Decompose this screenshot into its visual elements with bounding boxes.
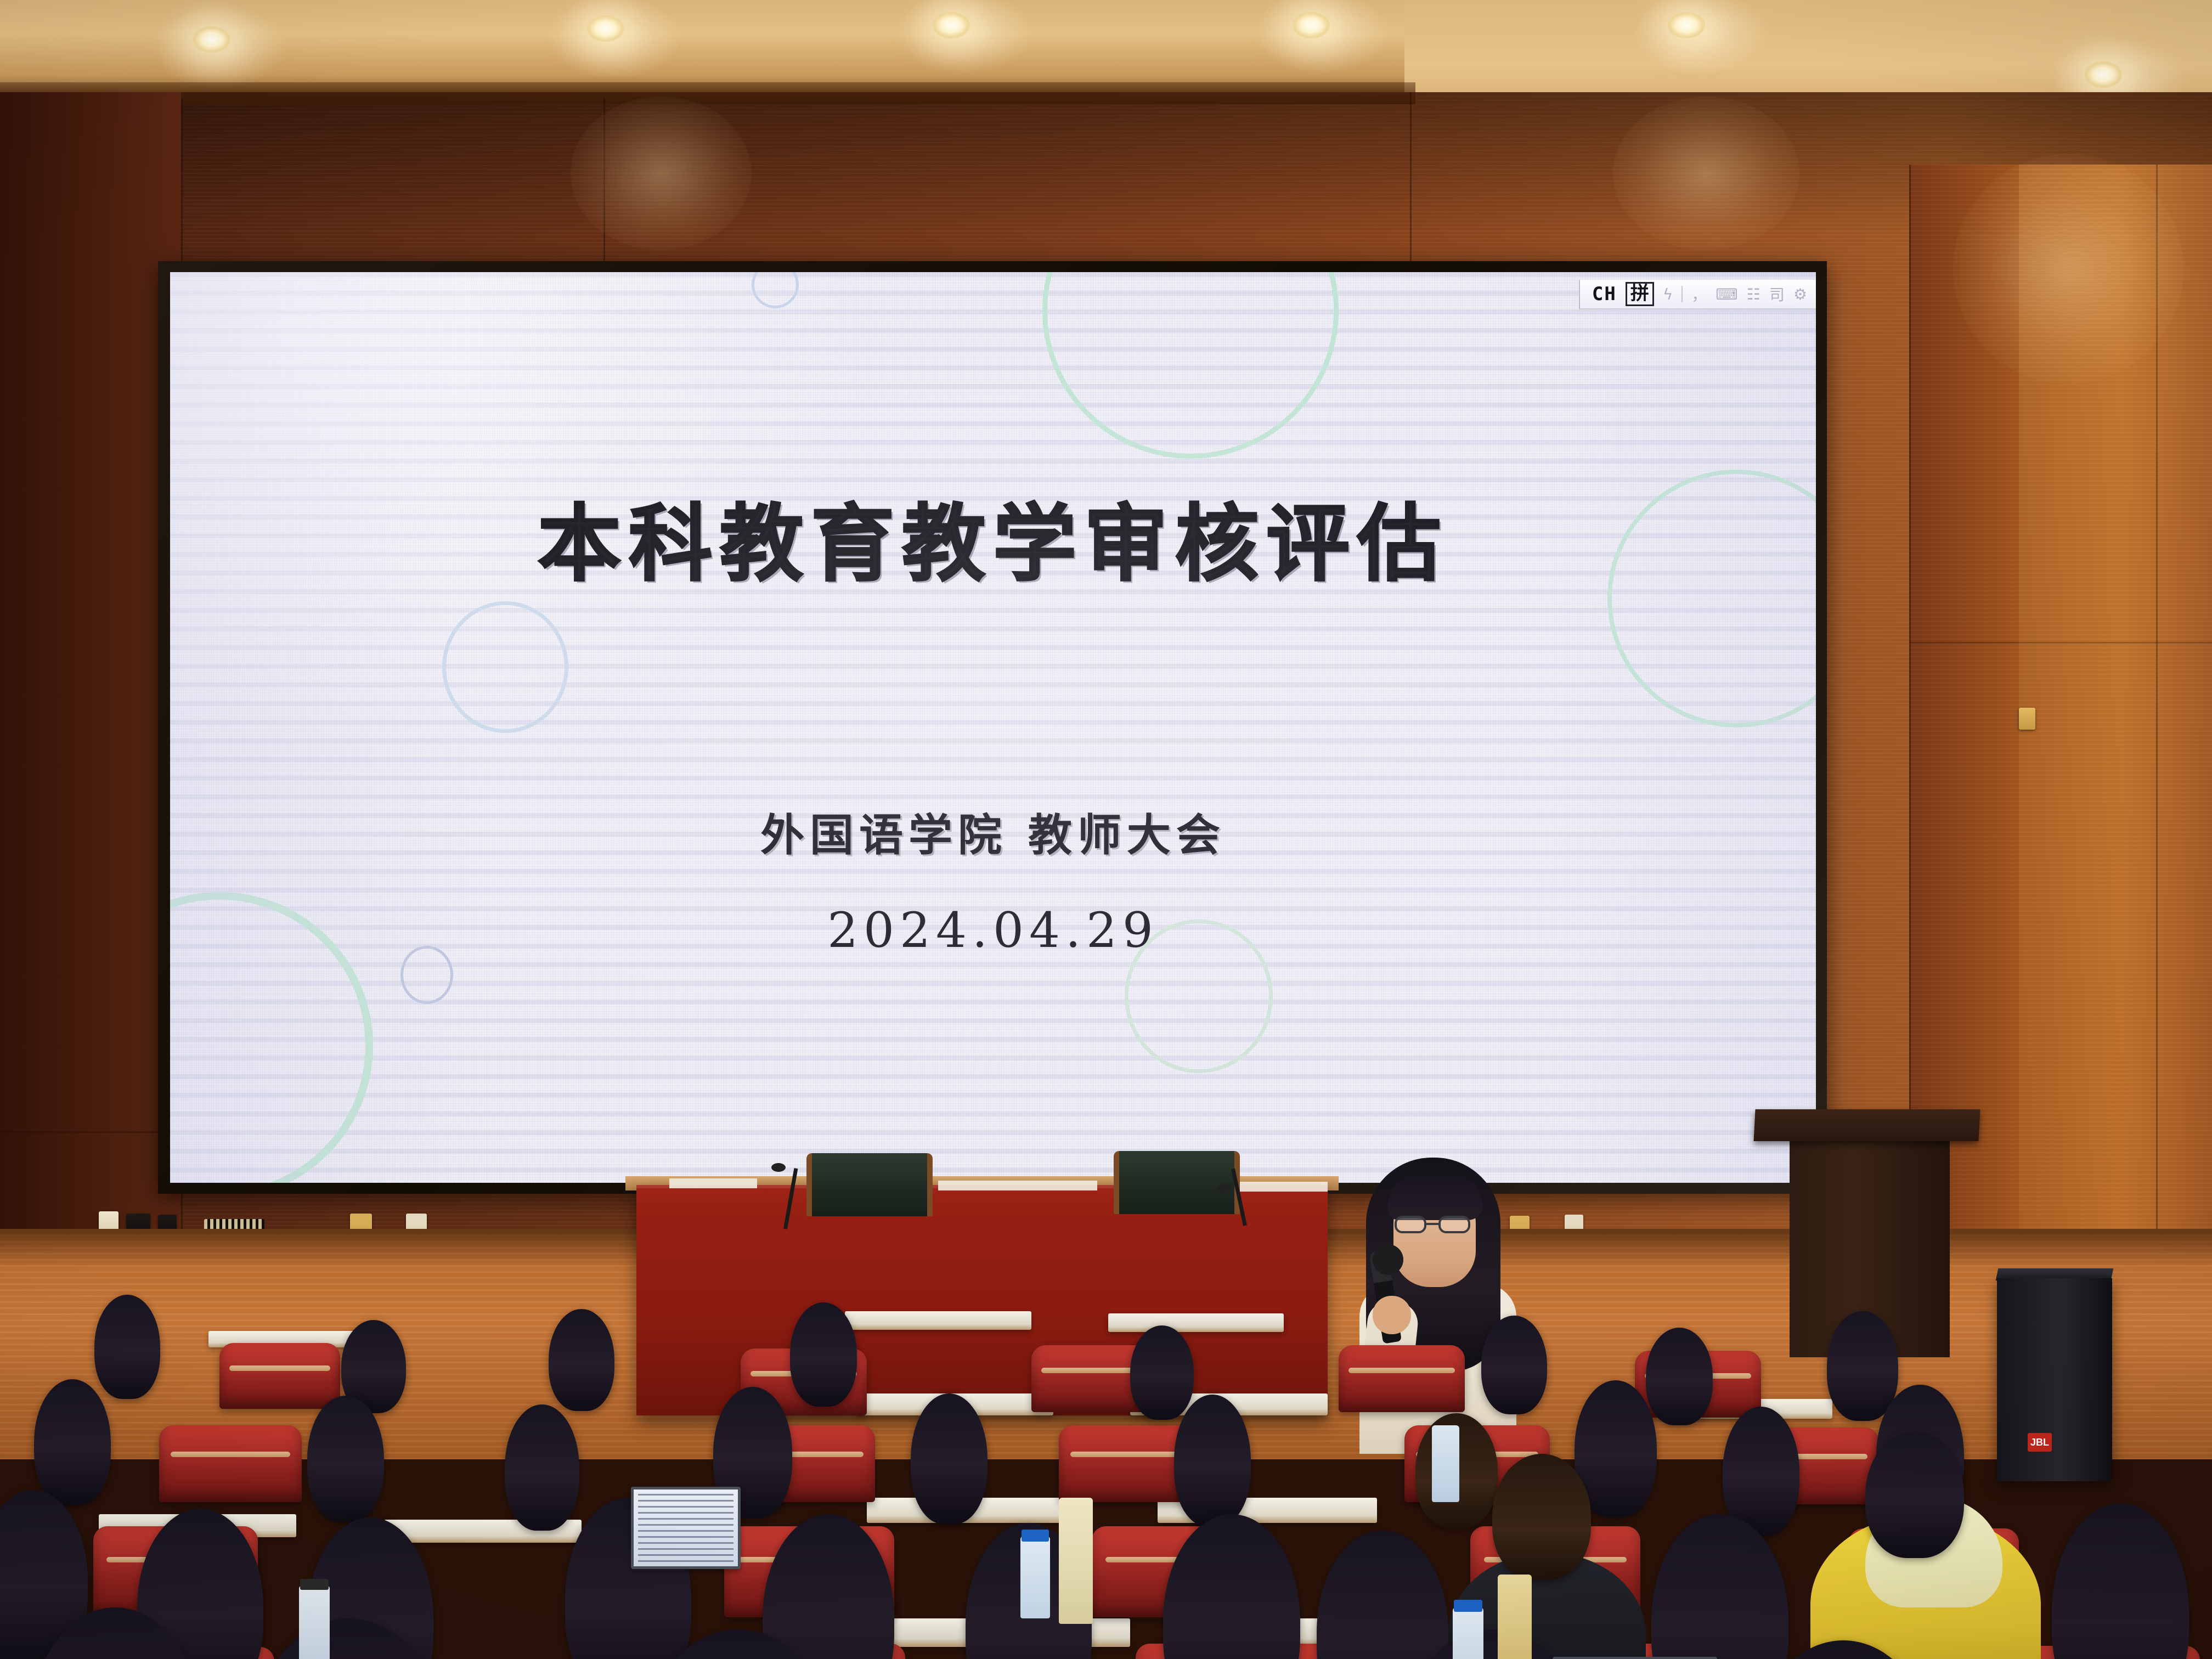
toolbox-icon[interactable]: ☷ — [1747, 285, 1760, 303]
ceiling-downlight — [2085, 61, 2122, 88]
ceiling-downlight — [1293, 12, 1330, 38]
menu-icon[interactable]: 司 — [1769, 283, 1785, 305]
ceiling-downlight — [1668, 12, 1705, 38]
auditorium-seat — [159, 1425, 302, 1502]
wall-light-spot — [1953, 154, 2183, 384]
audience-head — [1481, 1316, 1547, 1414]
bottle-cap — [1022, 1530, 1049, 1542]
wall-plate — [2019, 708, 2035, 730]
laptop-content — [638, 1494, 733, 1562]
ime-language-label[interactable]: CH — [1592, 283, 1617, 305]
ceiling-downlight — [193, 26, 230, 53]
laptop[interactable] — [1553, 1657, 1717, 1659]
water-bottle — [1453, 1607, 1483, 1659]
punctuation-icon[interactable]: ， — [1691, 283, 1707, 305]
audience-head — [1827, 1311, 1898, 1421]
bottle-cap — [300, 1579, 329, 1590]
wall-light-spot — [1613, 97, 1799, 250]
audience-head — [2052, 1503, 2189, 1659]
head-table-chair — [806, 1153, 933, 1216]
half-full-width-icon[interactable]: ϟ — [1663, 285, 1673, 303]
bottle-cap — [1454, 1600, 1482, 1612]
podium-top — [1753, 1109, 1980, 1141]
juice-bottle — [1498, 1575, 1532, 1659]
audience-head — [1492, 1454, 1591, 1580]
water-bottle — [299, 1585, 330, 1659]
audience-head — [1317, 1531, 1448, 1659]
audience-head — [790, 1302, 857, 1407]
head-table-chair — [1114, 1151, 1240, 1214]
audience-head — [549, 1309, 614, 1411]
laptop[interactable] — [631, 1487, 741, 1569]
audience-head — [1130, 1325, 1194, 1420]
presenter-glasses — [1395, 1216, 1471, 1234]
glasses-lens-left — [1395, 1216, 1426, 1233]
desk — [845, 1311, 1031, 1330]
audience-area — [0, 1278, 2212, 1659]
presenter-bangs — [1388, 1175, 1482, 1220]
desk — [1108, 1313, 1284, 1332]
soft-keyboard-icon[interactable]: ⌨ — [1716, 285, 1737, 303]
wall-seam — [1410, 92, 1412, 279]
wall-left-dark-panel — [0, 92, 181, 1255]
audience-head — [307, 1396, 384, 1522]
audience-head — [505, 1404, 579, 1531]
glasses-bridge — [1426, 1223, 1438, 1225]
audience-head — [911, 1393, 988, 1524]
table-paper — [669, 1178, 757, 1188]
ime-separator — [1681, 286, 1683, 302]
ceiling-soffit — [0, 82, 1415, 104]
audience-head — [1865, 1432, 1964, 1558]
glasses-lens-right — [1438, 1216, 1470, 1233]
table-paper — [938, 1181, 1097, 1190]
audience-head — [1646, 1328, 1713, 1425]
table-microphone-head — [771, 1163, 786, 1172]
auditorium-seat — [219, 1343, 340, 1409]
handheld-microphone-head — [1373, 1244, 1403, 1275]
audience-head — [1174, 1395, 1251, 1526]
ceiling-downlight — [587, 15, 624, 42]
ceiling-downlight — [933, 12, 970, 38]
ime-input-mode-label[interactable]: 拼 — [1626, 282, 1654, 306]
auditorium-seat — [1339, 1345, 1465, 1412]
ime-language-bar[interactable]: CH 拼 ϟ ， ⌨ ☷ 司 ⚙ — [1579, 280, 1816, 309]
water-bottle — [1432, 1425, 1459, 1502]
projection-screen: 本科教育教学审核评估 外国语学院 教师大会 2024.04.29 CH 拼 ϟ … — [170, 272, 1816, 1183]
audience-head — [94, 1295, 160, 1399]
screen-vignette — [170, 272, 1816, 1183]
audience-head — [34, 1379, 111, 1505]
auditorium-photo: 本科教育教学审核评估 外国语学院 教师大会 2024.04.29 CH 拼 ϟ … — [0, 0, 2212, 1659]
thermos-bottle — [1059, 1498, 1093, 1624]
water-bottle — [1020, 1536, 1050, 1618]
settings-gear-icon[interactable]: ⚙ — [1793, 285, 1807, 303]
wall-light-spot — [571, 97, 752, 250]
